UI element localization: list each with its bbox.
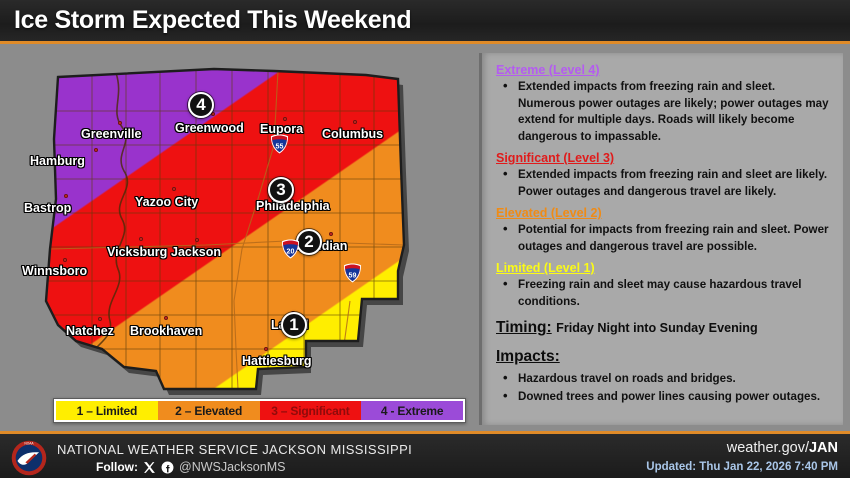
impacts-line: Impacts:	[496, 344, 833, 368]
interstate-shield-55: 55	[270, 134, 289, 154]
timing-value: Friday Night into Sunday Evening	[556, 321, 758, 335]
map-legend: 1 – Limited 2 – Elevated 3 – Significant…	[53, 398, 466, 423]
legend-seg-1: 1 – Limited	[56, 401, 158, 420]
city-label: Philadelphia	[256, 199, 330, 213]
nws-logo-icon: NOAA	[11, 440, 47, 476]
city-pin	[195, 238, 199, 242]
timing-line: Timing: Friday Night into Sunday Evening	[496, 315, 833, 339]
city-label: Hamburg	[30, 154, 85, 168]
level-descriptions: Extreme (Level 4)Extended impacts from f…	[496, 61, 833, 310]
interstate-shield-59: 59	[343, 263, 362, 283]
city-label: Brookhaven	[130, 324, 202, 338]
legend-seg-4: 4 - Extreme	[361, 401, 463, 420]
city-pin	[118, 121, 122, 125]
impacts-list: Hazardous travel on roads and bridges.Do…	[496, 371, 833, 405]
content-area: GreenvilleGreenwoodEuporaColumbusHamburg…	[0, 47, 850, 431]
social-handle[interactable]: @NWSJacksonMS	[179, 460, 285, 474]
website-office-code: JAN	[809, 440, 838, 456]
svg-text:NOAA: NOAA	[24, 441, 34, 445]
level-heading-3: Significant (Level 3)	[496, 151, 614, 165]
city-label: Columbus	[322, 127, 383, 141]
page-title: Ice Storm Expected This Weekend	[14, 6, 411, 35]
list-item: Freezing rain and sleet may cause hazard…	[496, 277, 833, 310]
level-heading-2: Elevated (Level 2)	[496, 206, 602, 220]
hazard-map[interactable]: GreenvilleGreenwoodEuporaColumbusHamburg…	[6, 49, 468, 429]
level-bullets-1: Freezing rain and sleet may cause hazard…	[496, 277, 833, 310]
follow-label: Follow:	[96, 460, 138, 474]
level-marker-4: 4	[188, 92, 214, 118]
facebook-icon[interactable]	[161, 461, 174, 474]
city-pin	[139, 237, 143, 241]
updated-timestamp: Updated: Thu Jan 22, 2026 7:40 PM	[646, 461, 838, 473]
list-item: Downed trees and power lines causing pow…	[496, 389, 833, 406]
legend-seg-3: 3 – Significant	[260, 401, 362, 420]
level-heading-1: Limited (Level 1)	[496, 261, 595, 275]
x-logo-icon[interactable]	[143, 461, 156, 474]
website-link[interactable]: weather.gov/JAN	[727, 440, 838, 456]
level-bullets-2: Potential for impacts from freezing rain…	[496, 222, 833, 255]
list-item: Potential for impacts from freezing rain…	[496, 222, 833, 255]
follow-row: Follow: @NWSJacksonMS	[96, 460, 285, 474]
footer-bar: NOAA NATIONAL WEATHER SERVICE JACKSON MI…	[0, 431, 850, 478]
level-bullets-3: Extended impacts from freezing rain and …	[496, 167, 833, 200]
header-bar: Ice Storm Expected This Weekend	[0, 0, 850, 44]
city-label: Jackson	[171, 245, 221, 259]
city-label: Hattiesburg	[242, 354, 311, 368]
svg-text:59: 59	[349, 272, 357, 280]
level-bullets-4: Extended impacts from freezing rain and …	[496, 79, 833, 145]
list-item: Hazardous travel on roads and bridges.	[496, 371, 833, 388]
city-pin	[63, 258, 67, 262]
city-label: Bastrop	[24, 201, 71, 215]
city-pin	[283, 117, 287, 121]
city-pin	[329, 232, 333, 236]
city-pin	[164, 316, 168, 320]
city-label: Yazoo City	[135, 195, 198, 209]
city-pin	[211, 112, 215, 116]
svg-text:20: 20	[287, 248, 295, 256]
city-pin	[353, 120, 357, 124]
impacts-label: Impacts:	[496, 348, 560, 366]
list-item: Extended impacts from freezing rain and …	[496, 79, 833, 145]
city-pin	[172, 187, 176, 191]
city-pin	[264, 347, 268, 351]
level-marker-1: 1	[281, 312, 307, 338]
city-label: Vicksburg	[107, 245, 167, 259]
level-heading-4: Extreme (Level 4)	[496, 63, 600, 77]
legend-seg-2: 2 – Elevated	[158, 401, 260, 420]
svg-text:55: 55	[276, 143, 284, 151]
list-item: Extended impacts from freezing rain and …	[496, 167, 833, 200]
weather-graphic: Ice Storm Expected This Weekend	[0, 0, 850, 478]
city-pin	[98, 317, 102, 321]
map-graphic	[6, 49, 468, 429]
city-label: Winnsboro	[22, 264, 87, 278]
website-domain: weather.gov/	[727, 440, 809, 456]
impacts-panel: Extreme (Level 4)Extended impacts from f…	[479, 53, 843, 425]
interstate-shield-20: 20	[281, 239, 300, 259]
city-pin	[64, 194, 68, 198]
office-name: NATIONAL WEATHER SERVICE JACKSON MISSISS…	[57, 442, 412, 457]
timing-label: Timing:	[496, 319, 552, 337]
city-label: Greenville	[81, 127, 141, 141]
city-pin	[94, 148, 98, 152]
city-label: Natchez	[66, 324, 114, 338]
city-label: Greenwood	[175, 121, 244, 135]
level-marker-3: 3	[268, 177, 294, 203]
